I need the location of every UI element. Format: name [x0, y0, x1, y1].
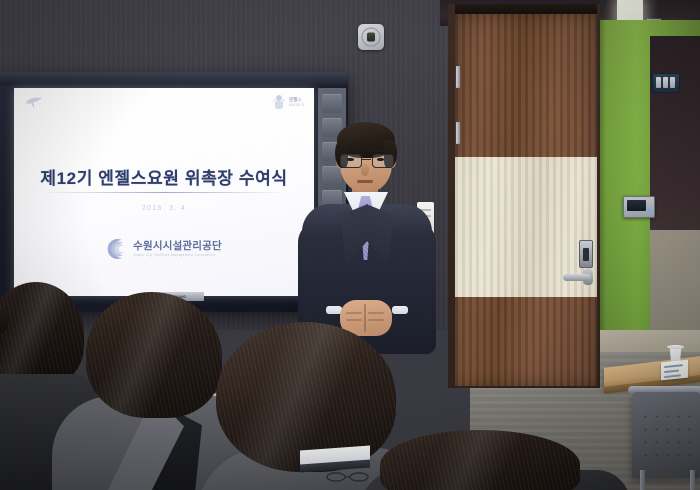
slide-mascot-label: 엔젤스 ANGELS — [289, 97, 304, 107]
slide-title: 제12기 엔젤스요원 위촉장 수여식 — [14, 164, 314, 189]
presenter-cuff-right — [392, 306, 408, 314]
presenter-mouth — [357, 180, 373, 183]
chair-leg — [690, 470, 695, 490]
thermostat-panel[interactable] — [623, 196, 655, 218]
presenter-nose — [361, 164, 369, 176]
chair-perforation-pattern — [640, 410, 692, 456]
organization-logo: 수원시시설관리공단 Suwon City Facilities Manageme… — [14, 238, 314, 260]
presentation-slide: 엔젤스 ANGELS 제12기 엔젤스요원 위촉장 수여식 2016. 3. 4… — [14, 88, 314, 296]
organization-name-ko: 수원시시설관리공단 — [133, 241, 222, 252]
tv-top-bezel — [0, 72, 348, 85]
meeting-room-door[interactable] — [455, 14, 597, 386]
attendee-back-right — [380, 430, 620, 490]
eyeglasses-icon — [326, 472, 370, 482]
presenter-eyebrow-right — [369, 149, 386, 152]
beige-wall-panel — [650, 230, 700, 330]
presenter — [296, 118, 446, 348]
name-card-text-line — [664, 374, 681, 378]
finger-line — [346, 312, 362, 314]
presenter-eyebrow-left — [344, 149, 361, 152]
stacking-chair[interactable] — [632, 392, 700, 478]
door-hinge — [456, 122, 460, 144]
finger-line — [346, 319, 362, 321]
chair-leg — [640, 470, 645, 490]
glasses-lens-left — [340, 154, 362, 168]
presenter-eye-right — [377, 158, 384, 161]
finger-line — [368, 312, 384, 314]
name-tent-card — [661, 360, 688, 381]
smoke-detector-core — [367, 33, 375, 42]
light-switch[interactable] — [663, 77, 668, 88]
attendee-hair — [380, 430, 580, 490]
hair-highlight — [380, 430, 580, 490]
slide-mascot-label-sub: ANGELS — [289, 103, 304, 107]
tv-button[interactable] — [322, 94, 342, 113]
organization-name-en: Suwon City Facilities Management Corpora… — [133, 254, 222, 257]
presenter-eye-left — [347, 158, 354, 161]
paper-cup-rim — [667, 345, 684, 349]
meeting-room-photo: 엔젤스 ANGELS 제12기 엔젤스요원 위촉장 수여식 2016. 3. 4… — [0, 0, 700, 490]
door-lock-plate[interactable] — [579, 240, 593, 268]
light-switch-panel[interactable] — [652, 73, 680, 93]
door-hinge — [456, 66, 460, 88]
slide-mascot-mark: 엔젤스 ANGELS — [272, 93, 304, 111]
slide-title-divider — [40, 192, 288, 193]
name-card-text-line — [664, 370, 679, 374]
slide-corner-mark-icon — [24, 94, 44, 108]
glasses-lens-right — [372, 154, 394, 168]
light-switch[interactable] — [670, 77, 675, 88]
name-card-text-line — [664, 364, 683, 368]
door-lock-slot — [583, 248, 589, 261]
glasses-bridge — [361, 159, 371, 160]
organization-name-block: 수원시시설관리공단 Suwon City Facilities Manageme… — [133, 241, 222, 257]
smoke-detector-icon — [358, 24, 384, 50]
thermostat-screen — [627, 200, 646, 211]
light-switch[interactable] — [656, 77, 661, 88]
finger-line — [368, 319, 384, 321]
thermostat-led-icon — [648, 209, 651, 212]
tv-screen: 엔젤스 ANGELS 제12기 엔젤스요원 위촉장 수여식 2016. 3. 4… — [14, 88, 314, 296]
slide-date: 2016. 3. 4 — [14, 205, 314, 212]
logo-swirl-icon — [106, 238, 128, 260]
door-lever-handle[interactable] — [563, 274, 591, 281]
